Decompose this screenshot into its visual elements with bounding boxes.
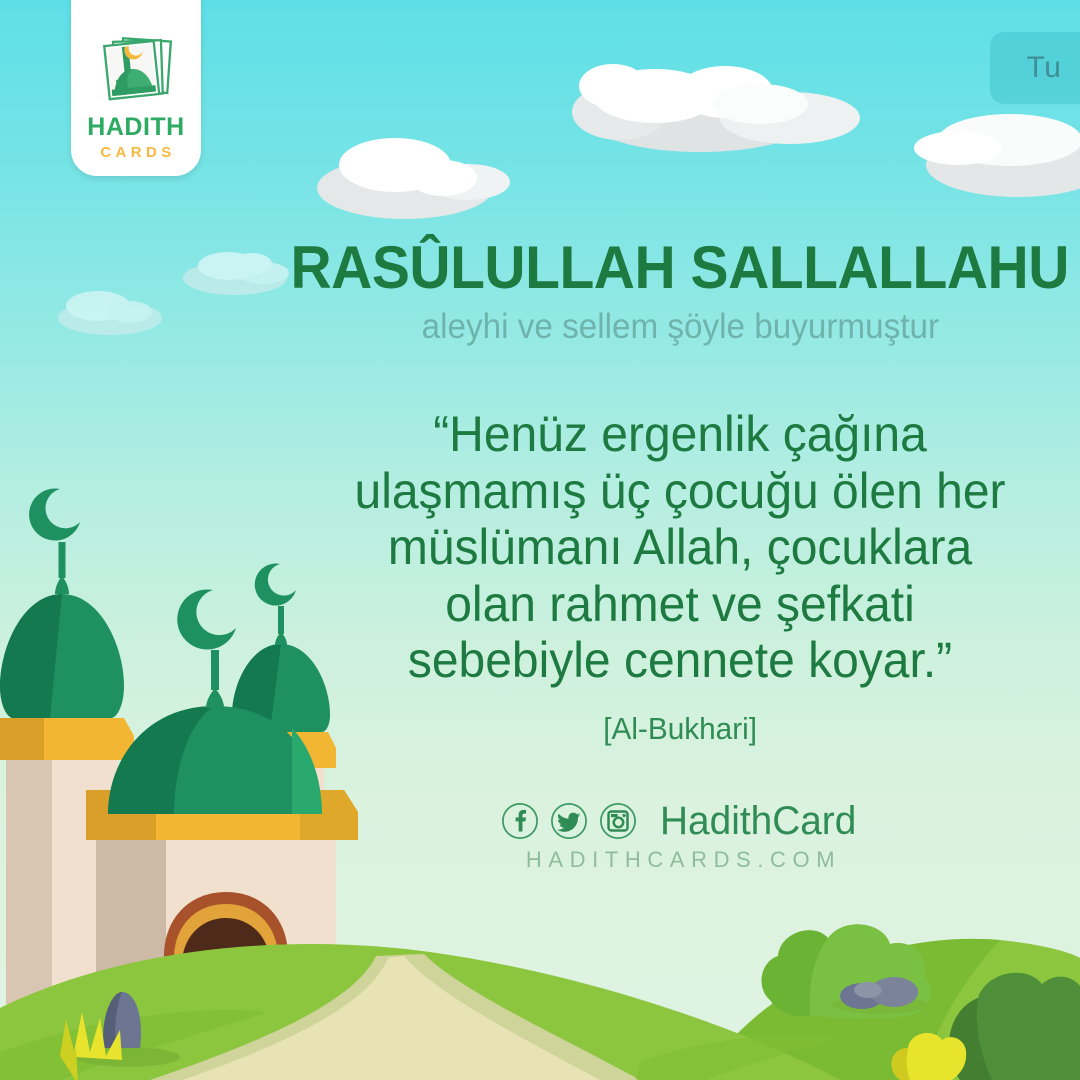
hadith-card: HADITH CARDS Tu RASÛLULLAH SALLALLAHU al… [0, 0, 1080, 1080]
mosque-photo-icon [90, 19, 182, 111]
logo-text-cards: CARDS [96, 145, 175, 160]
logo-text-hadith: HADITH [87, 115, 184, 140]
brand-logo-badge[interactable]: HADITH CARDS [71, 0, 201, 176]
language-badge-label: Tu [1027, 51, 1062, 85]
language-badge[interactable]: Tu [990, 32, 1080, 104]
